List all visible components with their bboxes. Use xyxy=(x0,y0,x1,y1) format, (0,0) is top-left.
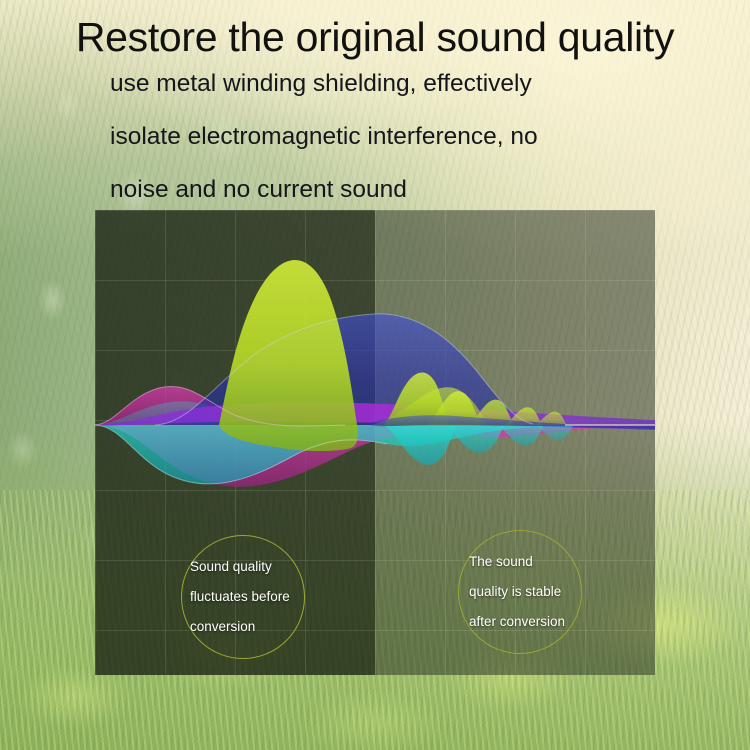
callout-before-line-3: conversion xyxy=(190,612,255,642)
callout-after-line-2: quality is stable xyxy=(469,577,561,607)
wave-cyan-lower xyxy=(95,425,655,484)
callout-before-conversion: Sound quality fluctuates before conversi… xyxy=(181,535,305,659)
subtitle-line-1: use metal winding shielding, effectively xyxy=(110,70,532,98)
callout-after-line-3: after conversion xyxy=(469,607,565,637)
wave-cyan-ripple-2 xyxy=(447,426,504,453)
callout-after-conversion: The sound quality is stable after conver… xyxy=(458,530,582,654)
page-title: Restore the original sound quality xyxy=(0,14,750,60)
subtitle-line-2: isolate electromagnetic interference, no xyxy=(110,123,538,151)
promo-banner: Restore the original sound quality use m… xyxy=(0,0,750,750)
callout-before-line-2: fluctuates before xyxy=(190,582,290,612)
wave-green-peak xyxy=(219,260,358,451)
callout-after-line-1: The sound xyxy=(469,547,533,577)
callout-before-line-1: Sound quality xyxy=(190,552,272,582)
subtitle-line-3: noise and no current sound xyxy=(110,176,407,204)
